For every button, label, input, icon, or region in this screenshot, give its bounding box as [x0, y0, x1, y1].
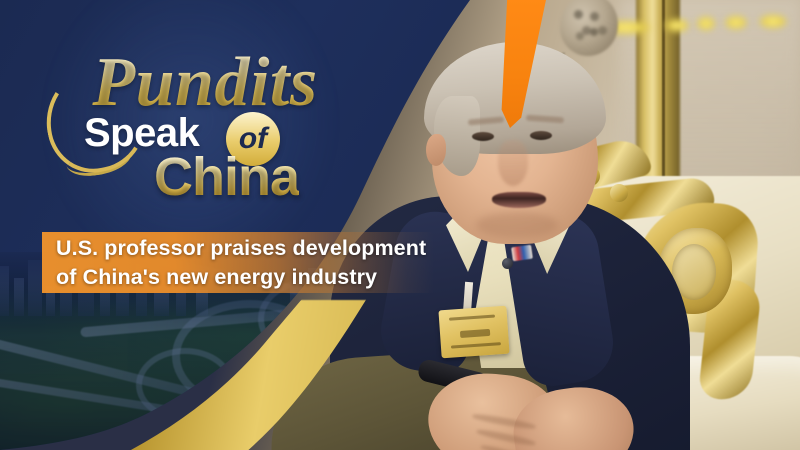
chin-shadow	[476, 212, 558, 238]
headline-text: U.S. professor praises development of Ch…	[56, 234, 456, 292]
ear	[426, 134, 446, 166]
video-frame: Pundits Speak of China U.S. professor pr…	[0, 0, 800, 450]
nose	[498, 140, 528, 186]
logo-word-china: China	[154, 150, 299, 204]
conference-badge-icon	[438, 306, 509, 359]
lapel-button	[502, 258, 513, 269]
lapel-pin-icon	[511, 245, 533, 262]
eye-left	[472, 132, 494, 141]
program-logo: Pundits Speak of China	[40, 46, 370, 204]
eye-right	[530, 131, 552, 140]
mouth	[492, 192, 546, 208]
